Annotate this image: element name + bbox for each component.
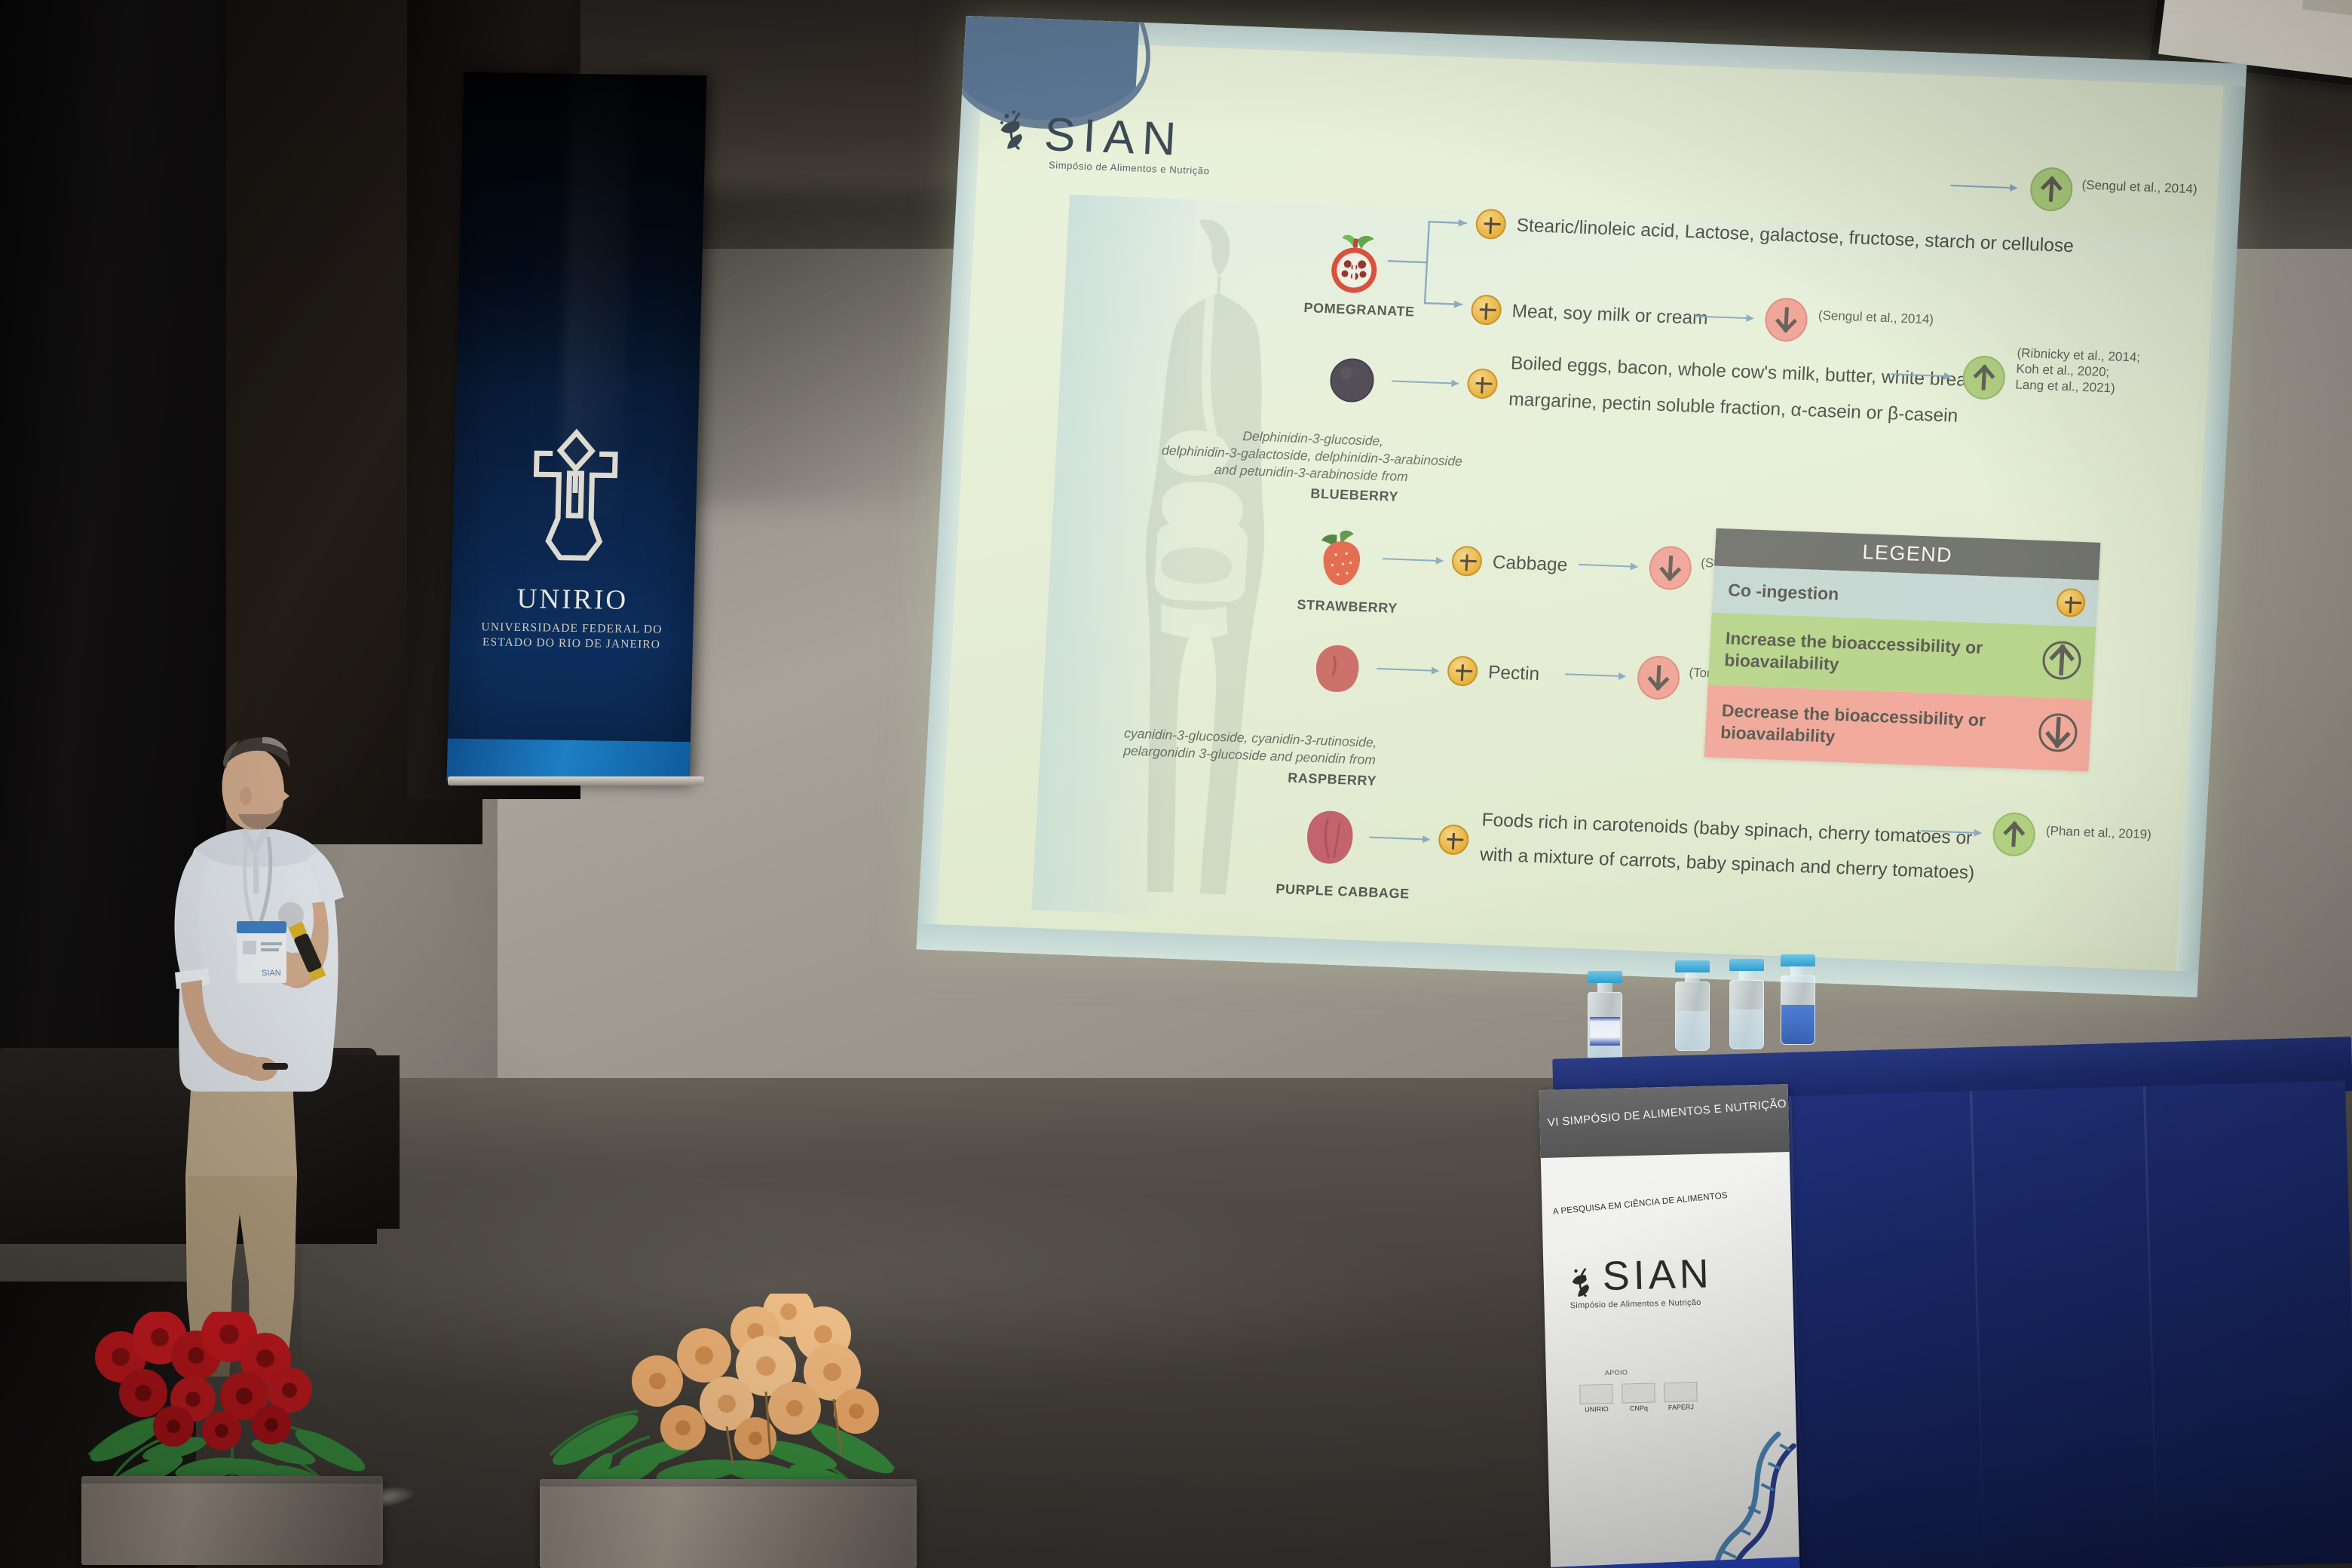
- legend-label: Co -ingestion: [1728, 579, 1839, 605]
- skirt-title-bar: VI SIMPÓSIO DE ALIMENTOS E NUTRIÇÃO: [1539, 1084, 1790, 1158]
- bottle-label: [1590, 1017, 1620, 1046]
- flow-row-strawberry-1: Cabbage: [1451, 546, 1568, 580]
- pomegranate-branch-bracket: [1384, 211, 1480, 312]
- flow-arrow: [1383, 558, 1443, 562]
- support-label: APOIO: [1605, 1368, 1628, 1377]
- presenter-table: VI SIMPÓSIO DE ALIMENTOS E NUTRIÇÃO A PE…: [1553, 965, 2352, 1568]
- flow-arrow: [1377, 668, 1438, 672]
- bottle-body: [1729, 980, 1764, 1049]
- bottle-neck: [1685, 972, 1700, 982]
- slide-surface: SIAN Simpósio de Alimentos e Nutrição: [917, 16, 2247, 997]
- flow-row-blueberry-1: [1466, 368, 1498, 399]
- strawberry-icon: [1311, 528, 1371, 595]
- water-bottle[interactable]: [1781, 954, 1815, 1045]
- unirio-banner: UNIRIO UNIVERSIDADE FEDERAL DO ESTADO DO…: [447, 72, 707, 784]
- legend-label: Increase the bioaccessibility orbioavail…: [1724, 627, 1983, 681]
- arrow-down-icon: [1648, 545, 1692, 590]
- blueberry-label: BLUEBERRY: [1310, 486, 1399, 505]
- event-title: VI SIMPÓSIO DE ALIMENTOS E NUTRIÇÃO: [1547, 1097, 1796, 1129]
- bottle-cap: [1781, 954, 1815, 966]
- svg-text:SIAN: SIAN: [262, 969, 281, 978]
- flower-planter-peach: [540, 1294, 917, 1568]
- bottle-body: [1588, 992, 1622, 1061]
- sian-logo: SIAN: [995, 106, 1185, 161]
- blueberry-icon: [1324, 352, 1380, 411]
- bottle-body: [1781, 975, 1815, 1045]
- bottle-cap: [1729, 959, 1764, 971]
- plus-icon: [1451, 546, 1483, 577]
- flow-row-raspberry-1: Pectin: [1447, 655, 1540, 689]
- bottle-cap: [1675, 960, 1710, 972]
- flow-row-pomegranate-1: Stearic/linoleic acid, Lactose, galactos…: [1475, 209, 2075, 262]
- citation: (Sengul et al., 2014): [1818, 308, 1934, 328]
- citation: (Ribnicky et al., 2014; Koh et al., 2020…: [2015, 345, 2161, 398]
- citation: (Sengul et al., 2014): [2081, 177, 2197, 198]
- co-ingestion-text: Meat, soy milk or cream: [1511, 299, 1709, 330]
- flow-arrow: [1950, 185, 2017, 188]
- bottle-body: [1675, 982, 1710, 1051]
- co-ingestion-text: Boiled eggs, bacon, whole cow's milk, bu…: [1508, 345, 1983, 435]
- bottle-cap: [1588, 971, 1622, 983]
- co-ingestion-line1: Foods rich in carotenoids (baby spinach,…: [1481, 810, 1973, 848]
- auditorium-scene: UNIRIO UNIVERSIDADE FEDERAL DO ESTADO DO…: [0, 0, 2352, 1568]
- bottle-water: [1781, 1005, 1815, 1044]
- sponsor-logo: CNPq: [1622, 1383, 1655, 1412]
- raspberry-icon: [1309, 639, 1367, 702]
- co-ingestion-text: Pectin: [1487, 660, 1540, 686]
- planter-box: [81, 1476, 383, 1565]
- planter-box: [540, 1479, 917, 1568]
- bottle-neck: [1597, 983, 1612, 992]
- unirio-line2: ESTADO DO RIO DE JANEIRO: [450, 635, 693, 653]
- strawberry-label: STRAWBERRY: [1297, 597, 1398, 617]
- bottle-neck: [1790, 966, 1805, 975]
- plus-icon: [1466, 368, 1498, 399]
- pomegranate-icon: [1321, 231, 1388, 301]
- projection-screen: SIAN Simpósio de Alimentos e Nutrição: [917, 16, 2247, 997]
- arrow-down-icon: [2036, 711, 2079, 757]
- purple-cabbage-label: PURPLE CABBAGE: [1276, 881, 1410, 902]
- flow-arrow: [1392, 380, 1458, 384]
- arrow-up-icon: [1992, 812, 2036, 857]
- co-ingestion-line2: margarine, pectin soluble fraction, α-ca…: [1508, 389, 1958, 426]
- plus-icon: [1475, 209, 1507, 240]
- human-digestive-system-silhouette: [1059, 210, 1322, 908]
- sian-wordmark: SIAN: [1602, 1251, 1713, 1300]
- plus-icon: [1447, 655, 1478, 686]
- unirio-institution-name: UNIVERSIDADE FEDERAL DO ESTADO DO RIO DE…: [450, 620, 694, 653]
- arrow-up-icon: [2040, 639, 2083, 685]
- bioaccessibility-flowchart: POMEGRANATE Stearic/linoleic acid, Lacto…: [1032, 194, 2208, 952]
- unirio-logo-icon: [517, 427, 632, 583]
- co-ingestion-line2: with a mixture of carrots, baby spinach …: [1480, 844, 1975, 884]
- picture-mat: [2302, 0, 2352, 17]
- flow-row-pomegranate-2: Meat, soy milk or cream: [1471, 294, 1709, 333]
- banner-stand-bar: [448, 776, 704, 786]
- plus-icon: [1438, 824, 1469, 855]
- purple-cabbage-icon: [1300, 805, 1360, 871]
- sian-leaf-icon: [995, 106, 1040, 156]
- raspberry-label: RASPBERRY: [1288, 770, 1377, 789]
- sponsor-logo: UNIRIO: [1579, 1384, 1613, 1413]
- co-ingestion-text: Cabbage: [1492, 550, 1568, 577]
- arrow-up-icon: [1962, 355, 2006, 400]
- table-skirt-banner: VI SIMPÓSIO DE ALIMENTOS E NUTRIÇÃO A PE…: [1539, 1084, 1801, 1568]
- bottle-water: [1730, 1009, 1763, 1049]
- plus-icon: [2056, 588, 2086, 617]
- sian-leaf-icon: [1569, 1263, 1600, 1300]
- dna-helix-icon: [1665, 1428, 1801, 1568]
- skirt-sian-logo: SIAN Simpósio de Alimentos e Nutrição: [1569, 1251, 1713, 1311]
- citation: (Phan et al., 2019): [2045, 822, 2151, 842]
- legend-label: Decrease the bioaccessibility orbioavail…: [1720, 700, 1986, 753]
- flow-row-purple-cabbage-1: [1438, 824, 1469, 855]
- co-ingestion-line1: Boiled eggs, bacon, whole cow's milk, bu…: [1510, 353, 1983, 390]
- event-subtitle: A PESQUISA EM CIÊNCIA DE ALIMENTOS: [1552, 1185, 1793, 1217]
- water-bottle[interactable]: [1675, 960, 1710, 1051]
- sponsor-logos: UNIRIO CNPq FAPERJ: [1579, 1382, 1698, 1413]
- arrow-up-icon: [2029, 167, 2074, 212]
- legend-row-decrease: Decrease the bioaccessibility orbioavail…: [1704, 684, 2093, 771]
- speaker-presenter: SIAN: [113, 724, 430, 1372]
- co-ingestion-text: Stearic/linoleic acid, Lactose, galactos…: [1516, 213, 2075, 258]
- legend: LEGEND Co -ingestion Increase the bioacc…: [1704, 528, 2101, 772]
- water-bottle[interactable]: [1729, 959, 1764, 1049]
- arrow-down-icon: [1637, 655, 1681, 700]
- banner-top-shadow: [456, 72, 706, 392]
- flower-planter-red: [81, 1312, 383, 1565]
- sponsor-logo: FAPERJ: [1664, 1382, 1698, 1411]
- arrow-down-icon: [1764, 297, 1808, 342]
- flow-arrow: [1369, 837, 1429, 841]
- bottle-water: [1676, 1011, 1709, 1050]
- legend-row-increase: Increase the bioaccessibility orbioavail…: [1708, 613, 2096, 700]
- flow-arrow: [1565, 673, 1625, 677]
- unirio-acronym: UNIRIO: [451, 582, 694, 617]
- water-bottle[interactable]: [1588, 971, 1622, 1061]
- flow-arrow: [1579, 564, 1637, 568]
- bottle-neck: [1739, 971, 1754, 980]
- co-ingestion-text: Foods rich in carotenoids (baby spinach,…: [1479, 803, 1977, 890]
- plus-icon: [1471, 294, 1502, 325]
- sian-wordmark: SIAN: [1043, 114, 1185, 161]
